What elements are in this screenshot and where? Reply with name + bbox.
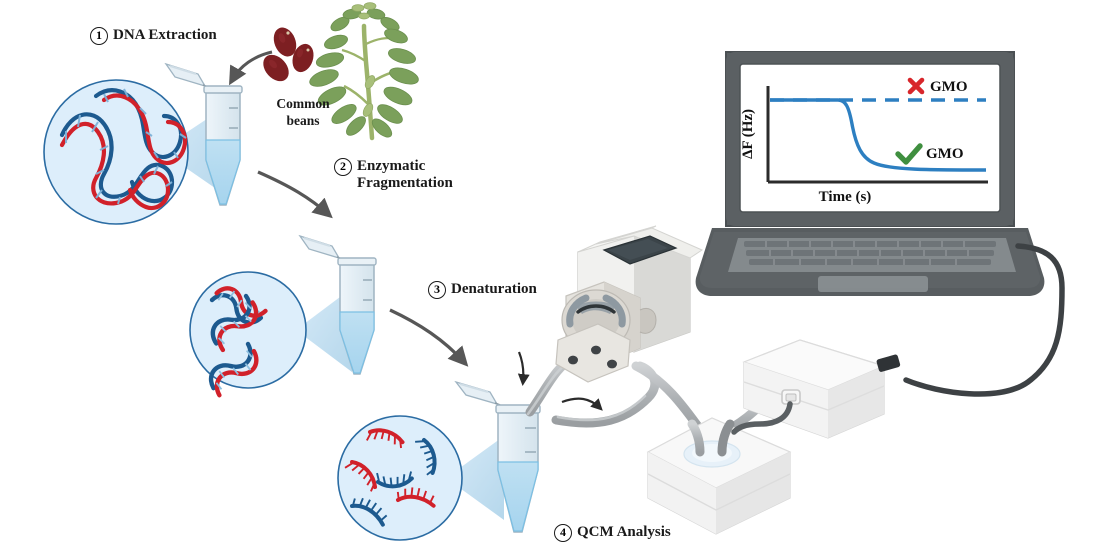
qcm-control-unit	[734, 340, 901, 438]
step-text-2: Enzymatic Fragmentation	[357, 158, 453, 193]
flow-arrow-in	[519, 352, 523, 382]
common-beans-illustration	[258, 24, 317, 86]
figure-canvas: GMO GMO Time (s) ΔF (Hz) 1 DNA Extractio…	[0, 0, 1100, 560]
peristaltic-pump	[556, 226, 702, 382]
step-number-1: 1	[90, 27, 108, 45]
step-number-2: 2	[334, 158, 352, 176]
chart-ylabel: ΔF (Hz)	[740, 109, 756, 159]
qcm-flow-cell	[648, 418, 790, 534]
step-label-3: 3 Denaturation	[428, 281, 537, 299]
flow-arrow-out	[562, 399, 600, 408]
dna-circle-single-strands	[338, 416, 462, 540]
step-text-4: QCM Analysis	[577, 524, 671, 541]
arrow-step-2	[258, 172, 328, 214]
step-number-3: 3	[428, 281, 446, 299]
step-number-4: 4	[554, 524, 572, 542]
step-label-1: 1 DNA Extraction	[90, 27, 217, 45]
dna-circle-intact	[44, 80, 188, 224]
arrow-step-3	[390, 310, 464, 362]
sample-label-common-beans: Common beans	[268, 96, 338, 130]
workflow-illustration: GMO GMO Time (s) ΔF (Hz)	[0, 0, 1100, 560]
step-label-2: 2 Enzymatic Fragmentation	[334, 158, 453, 193]
chart-annotation-nongmo: GMO	[930, 79, 968, 95]
chart-xlabel: Time (s)	[819, 189, 872, 205]
step-text-1: DNA Extraction	[113, 27, 217, 44]
laptop	[696, 52, 1045, 296]
chart-annotation-gmo: GMO	[926, 146, 964, 162]
step-text-3: Denaturation	[451, 281, 537, 298]
dna-circle-fragmented	[190, 272, 306, 402]
step-label-4: 4 QCM Analysis	[554, 524, 671, 542]
